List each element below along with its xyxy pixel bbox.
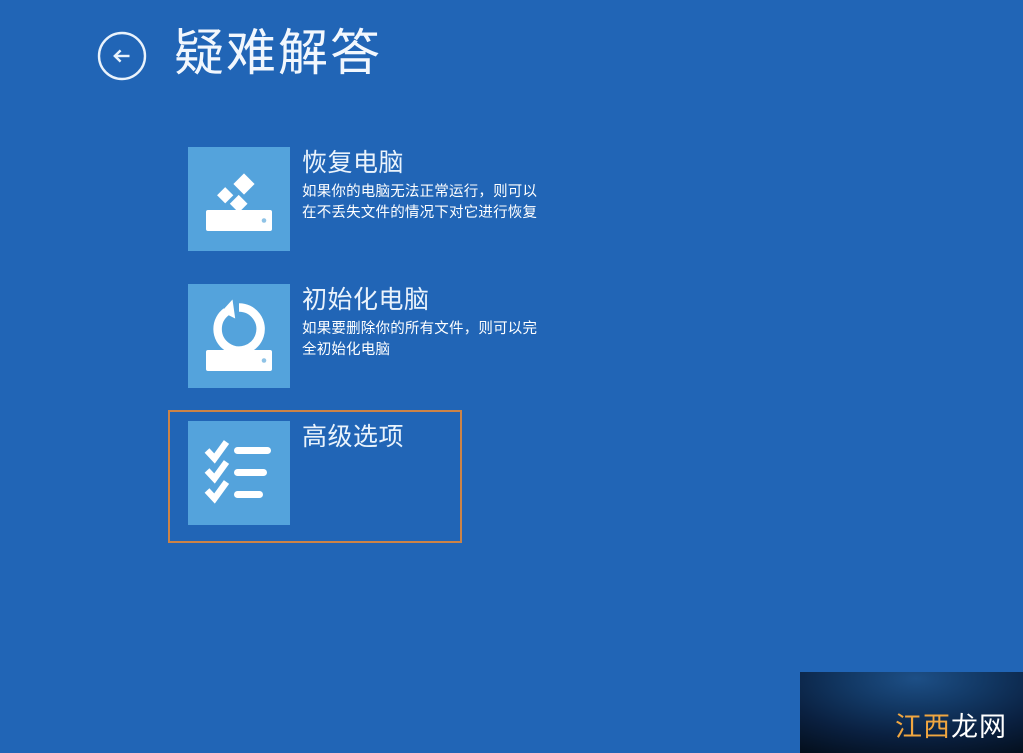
restore-pc-icon <box>188 147 290 251</box>
option-description-line1: 如果要删除你的所有文件，则可以完 <box>302 319 460 340</box>
option-text-block: 高级选项 <box>290 421 404 456</box>
option-title: 初始化电脑 <box>302 285 460 315</box>
watermark-text-plain: 龙网 <box>951 712 1007 743</box>
option-description: 如果你的电脑无法正常运行，则可以 在不丢失文件的情况下对它进行恢复 <box>302 182 460 224</box>
option-text-block: 初始化电脑 如果要删除你的所有文件，则可以完 全初始化电脑 <box>290 284 460 361</box>
option-advanced-options[interactable]: 高级选项 <box>168 410 462 543</box>
option-description-line1: 如果你的电脑无法正常运行，则可以 <box>302 182 460 203</box>
watermark-text-accent: 江西 <box>895 712 951 743</box>
watermark-text: 江西龙网 <box>895 714 1007 741</box>
page-title: 疑难解答 <box>174 28 382 84</box>
back-arrow-icon[interactable] <box>96 30 148 82</box>
option-title: 恢复电脑 <box>302 148 460 178</box>
option-text-block: 恢复电脑 如果你的电脑无法正常运行，则可以 在不丢失文件的情况下对它进行恢复 <box>290 147 460 224</box>
page-header: 疑难解答 <box>96 28 382 84</box>
troubleshoot-screen: 疑难解答 恢复电脑 如果你的电脑无法正常运行，则可以 <box>0 0 1023 753</box>
option-description: 如果要删除你的所有文件，则可以完 全初始化电脑 <box>302 319 460 361</box>
option-description-line2: 全初始化电脑 <box>302 340 460 361</box>
option-reset-pc[interactable]: 初始化电脑 如果要删除你的所有文件，则可以完 全初始化电脑 <box>168 273 462 399</box>
reset-pc-icon <box>188 284 290 388</box>
watermark-badge: 江西龙网 <box>800 672 1023 753</box>
option-title: 高级选项 <box>302 422 404 452</box>
option-description-line2: 在不丢失文件的情况下对它进行恢复 <box>302 203 460 224</box>
checklist-icon <box>188 421 290 525</box>
options-list: 恢复电脑 如果你的电脑无法正常运行，则可以 在不丢失文件的情况下对它进行恢复 初… <box>168 136 588 554</box>
option-restore-pc[interactable]: 恢复电脑 如果你的电脑无法正常运行，则可以 在不丢失文件的情况下对它进行恢复 <box>168 136 462 262</box>
